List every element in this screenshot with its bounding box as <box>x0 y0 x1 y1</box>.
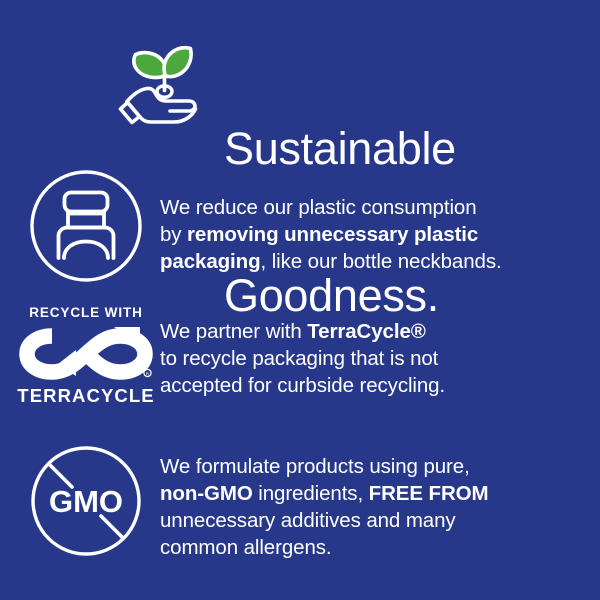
text-line: non-GMO ingredients, FREE FROM <box>160 480 586 507</box>
text-line: We partner with TerraCycle® <box>160 318 586 345</box>
terracycle-logo: RECYCLE WITH R TERRACYCLE <box>0 305 160 406</box>
feature-row-non-gmo: GMO We formulate products using pure, no… <box>0 443 600 561</box>
no-gmo-circle-icon: GMO <box>0 443 160 559</box>
text-line: packaging, like our bottle neckbands. <box>160 248 586 275</box>
sustainable-goodness-infographic: Sustainable Goodness. We reduce our plas… <box>0 0 600 600</box>
hand-holding-sprout-icon <box>112 32 212 132</box>
feature-row-plastic-reduction: We reduce our plastic consumption by rem… <box>0 168 600 284</box>
header: Sustainable Goodness. <box>0 26 600 146</box>
terracycle-logo-bottom-text: TERRACYCLE <box>17 386 154 406</box>
text-line: We reduce our plastic consumption <box>160 194 586 221</box>
page-title-line-1: Sustainable <box>224 124 456 173</box>
feature-text-terracycle: We partner with TerraCycle® to recycle p… <box>160 305 600 399</box>
terracycle-logo-top-text: RECYCLE WITH <box>29 305 143 320</box>
infinity-recycle-arrows-icon: R <box>18 323 154 385</box>
feature-row-terracycle: RECYCLE WITH R TERRACYCLE <box>0 305 600 406</box>
feature-text-non-gmo: We formulate products using pure, non-GM… <box>160 443 600 561</box>
text-line: to recycle packaging that is not <box>160 345 586 372</box>
text-line: by removing unnecessary plastic <box>160 221 586 248</box>
text-line: We formulate products using pure, <box>160 453 586 480</box>
text-line: common allergens. <box>160 534 586 561</box>
text-line: accepted for curbside recycling. <box>160 372 586 399</box>
feature-text-plastic-reduction: We reduce our plastic consumption by rem… <box>160 168 600 275</box>
no-gmo-label: GMO <box>49 484 123 519</box>
text-line: unnecessary additives and many <box>160 507 586 534</box>
bottle-neckband-circle-icon <box>0 168 160 284</box>
